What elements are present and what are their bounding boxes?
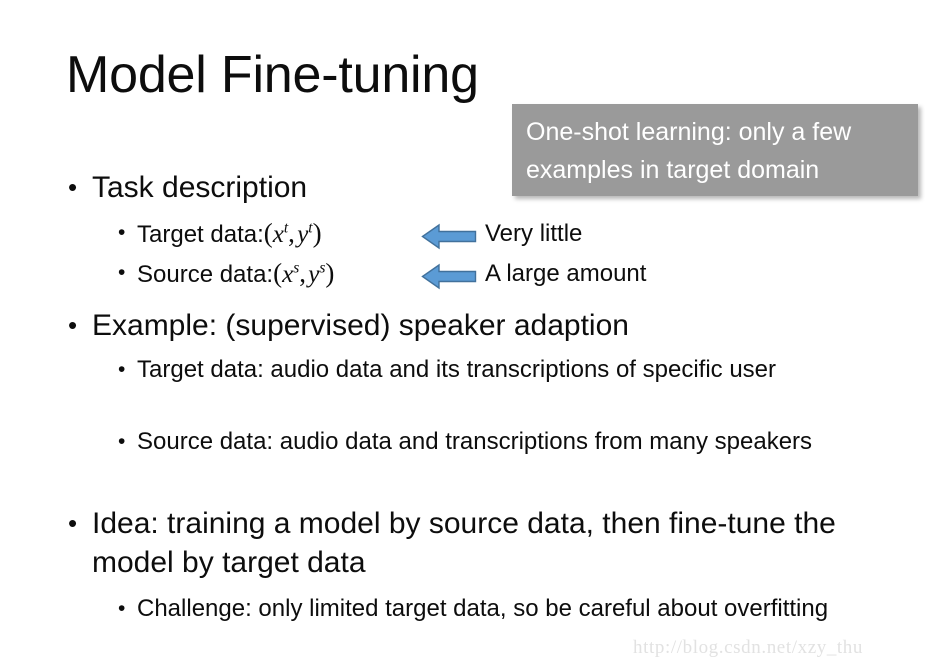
source-data-label: Source data: — [137, 261, 273, 288]
section-idea: • Idea: training a model by source data,… — [68, 504, 843, 582]
item-idea-challenge: • Challenge: only limited target data, s… — [118, 591, 863, 627]
callout-line-2: examples in target domain — [526, 151, 904, 189]
callout-box: One-shot learning: only a few examples i… — [512, 104, 918, 196]
target-data-label: Target data: — [137, 221, 264, 248]
idea-heading: Idea: training a model by source data, t… — [92, 504, 843, 582]
bullet-row-challenge: • Challenge: only limited target data, s… — [118, 591, 863, 627]
watermark: http://blog.csdn.net/xzy_thu — [633, 637, 863, 659]
example-target-data-text: Target data: audio data and its transcri… — [137, 352, 848, 388]
annotation-a-large-amount: A large amount — [485, 260, 646, 288]
item-example-target-data: • Target data: audio data and its transc… — [118, 352, 848, 388]
slide-canvas: Model Fine-tuning One-shot learning: onl… — [0, 0, 925, 671]
math-var-y-target: yt — [297, 221, 312, 248]
bullet-row-task-description: • Task description — [68, 168, 488, 207]
target-data-line: Target data:(xt, yt) — [137, 215, 438, 253]
bullet-row-idea: • Idea: training a model by source data,… — [68, 504, 843, 582]
math-var-x-target: xt — [273, 221, 288, 248]
bullet-row-source-data: • Source data:(xs, ys) — [118, 255, 438, 293]
item-example-source-data: • Source data: audio data and transcript… — [118, 424, 848, 460]
section-example: • Example: (supervised) speaker adaption — [68, 306, 848, 345]
left-arrow-icon — [421, 222, 477, 251]
callout-line-1: One-shot learning: only a few — [526, 113, 904, 151]
math-open-paren-target: ( — [264, 218, 273, 248]
math-open-paren-source: ( — [273, 258, 282, 288]
example-source-data-text: Source data: audio data and transcriptio… — [137, 424, 848, 460]
example-heading: Example: (supervised) speaker adaption — [92, 306, 848, 345]
source-data-line: Source data:(xs, ys) — [137, 255, 438, 293]
bullet-row-target-data: • Target data:(xt, yt) — [118, 215, 438, 253]
math-comma-source: , — [299, 258, 308, 288]
item-target-data-notation: • Target data:(xt, yt) — [118, 215, 438, 253]
bullet-row-example-source: • Source data: audio data and transcript… — [118, 424, 848, 460]
math-comma-target: , — [288, 218, 297, 248]
math-close-paren-source: ) — [325, 258, 334, 288]
bullet-marker-level2: • — [118, 424, 140, 460]
bullet-marker-level2: • — [118, 352, 140, 388]
page-title: Model Fine-tuning — [66, 48, 479, 103]
task-description-heading: Task description — [92, 168, 488, 207]
section-task-description: • Task description — [68, 168, 488, 207]
bullet-marker-level2: • — [118, 215, 140, 251]
challenge-text: Challenge: only limited target data, so … — [137, 591, 863, 627]
annotation-very-little: Very little — [485, 220, 582, 248]
bullet-row-example-target: • Target data: audio data and its transc… — [118, 352, 848, 388]
bullet-marker-level2: • — [118, 255, 140, 291]
item-source-data-notation: • Source data:(xs, ys) — [118, 255, 438, 293]
bullet-row-example: • Example: (supervised) speaker adaption — [68, 306, 848, 345]
math-var-x-source: xs — [282, 261, 299, 288]
bullet-marker-level2: • — [118, 591, 140, 627]
bullet-marker-level1: • — [68, 504, 90, 543]
left-arrow-icon — [421, 262, 477, 291]
math-close-paren-target: ) — [313, 218, 322, 248]
math-var-y-source: ys — [308, 261, 325, 288]
bullet-marker-level1: • — [68, 306, 90, 345]
bullet-marker-level1: • — [68, 168, 90, 207]
